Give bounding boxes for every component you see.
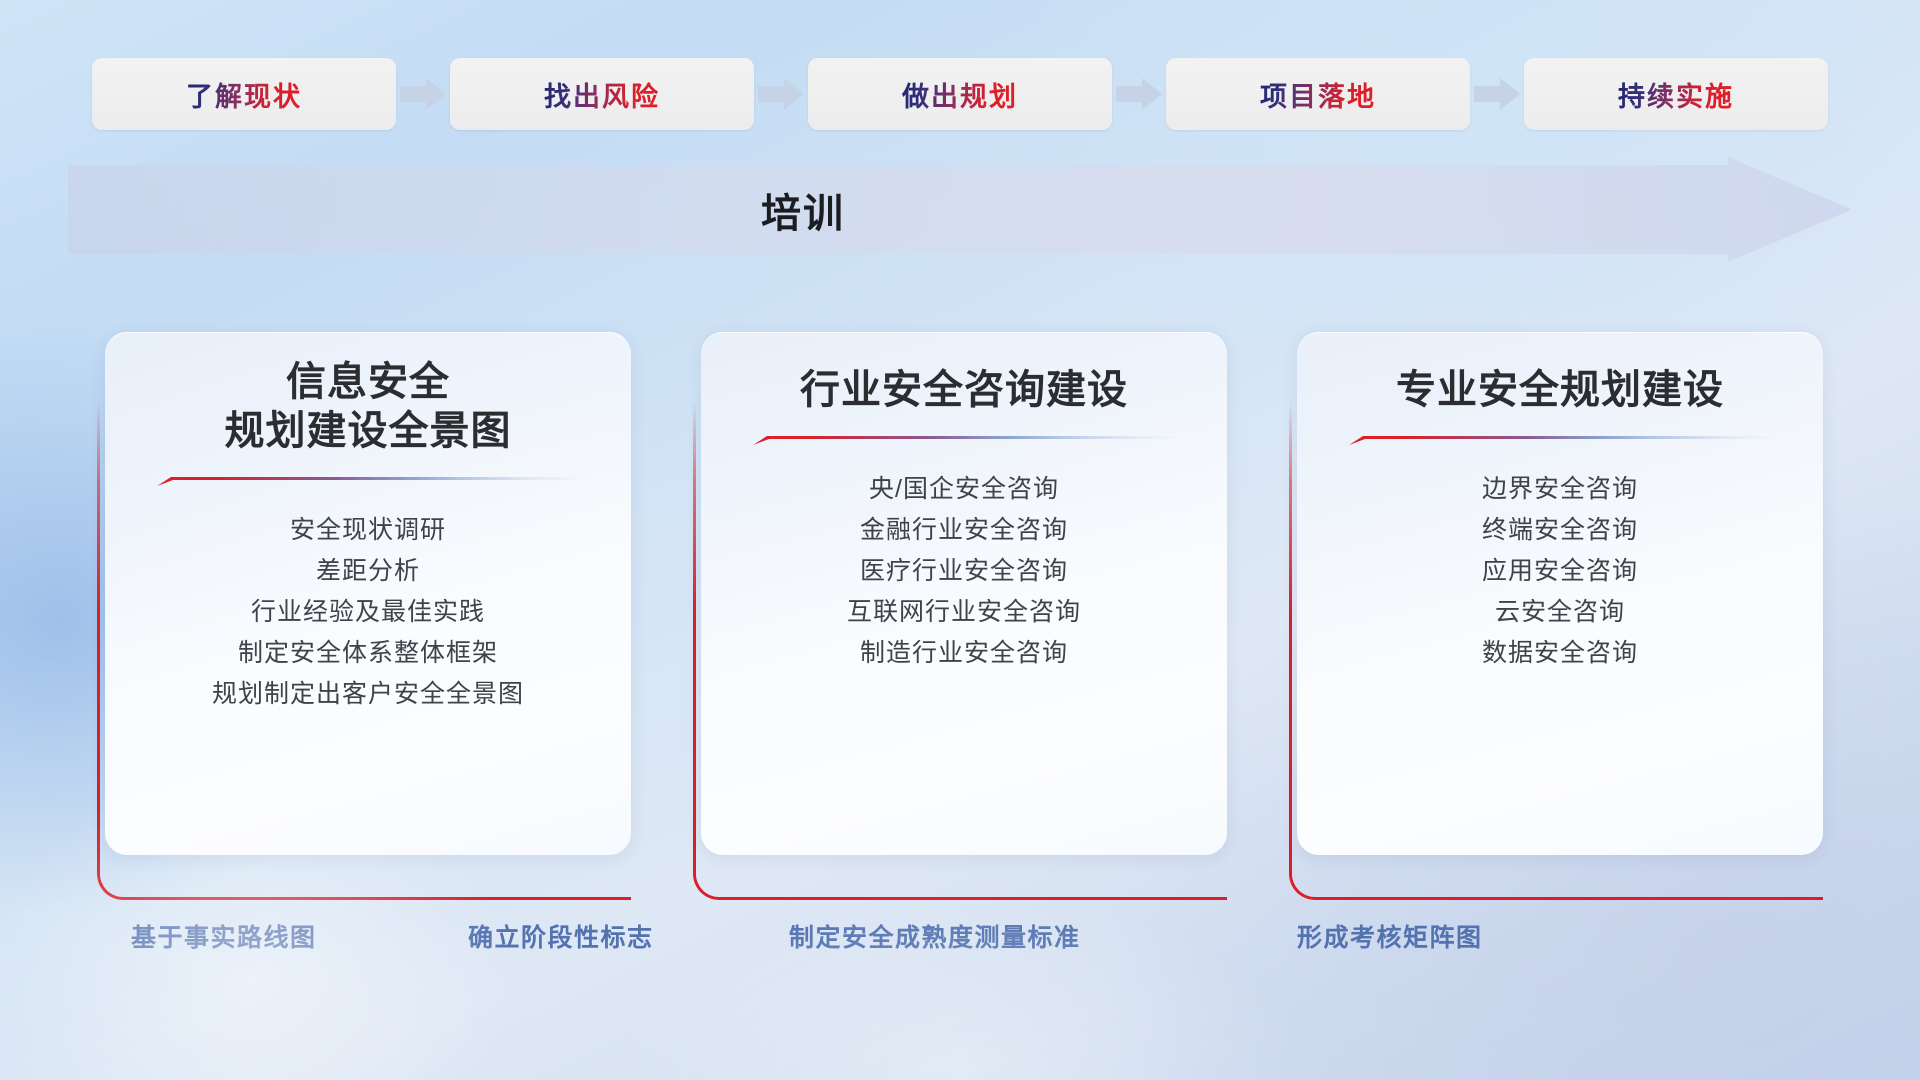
list-item[interactable]: 央/国企安全咨询 [701,469,1227,510]
card-title: 专业安全规划建设 [1396,366,1724,415]
list-item[interactable]: 安全现状调研 [105,510,631,551]
step-label: 了解现状 [186,75,302,114]
training-banner: 培训 [68,157,1852,262]
card-item-list: 边界安全咨询终端安全咨询应用安全咨询云安全咨询数据安全咨询 [1297,469,1823,674]
arrow-right-icon [396,75,450,113]
step-arrow-4 [1470,75,1524,113]
card-title: 行业安全咨询建设 [800,366,1128,415]
card-2[interactable]: 行业安全咨询建设央/国企安全咨询金融行业安全咨询医疗行业安全咨询互联网行业安全咨… [693,332,1227,877]
list-item[interactable]: 规划制定出客户安全全景图 [105,674,631,715]
list-item[interactable]: 制造行业安全咨询 [701,633,1227,674]
step-label: 找出风险 [544,75,660,114]
arrow-right-icon [1470,75,1524,113]
step-label: 持续实施 [1618,75,1734,114]
banner-title: 培训 [68,157,1538,262]
slide-canvas: 了解现状找出风险做出规划项目落地持续实施 培训 信息安全 规划建设全景图安全现状… [0,0,1920,1080]
step-arrow-1 [396,75,450,113]
list-item[interactable]: 行业经验及最佳实践 [105,592,631,633]
step-box-3[interactable]: 做出规划 [808,58,1112,130]
step-box-5[interactable]: 持续实施 [1524,58,1828,130]
step-box-4[interactable]: 项目落地 [1166,58,1470,130]
list-item[interactable]: 医疗行业安全咨询 [701,551,1227,592]
list-item[interactable]: 金融行业安全咨询 [701,510,1227,551]
list-item[interactable]: 边界安全咨询 [1297,469,1823,510]
caption-row: 基于事实路线图确立阶段性标志制定安全成熟度测量标准形成考核矩阵图 [0,918,1920,958]
card-item-list: 央/国企安全咨询金融行业安全咨询医疗行业安全咨询互联网行业安全咨询制造行业安全咨… [701,469,1227,674]
arrow-right-icon [754,75,808,113]
card-panel: 专业安全规划建设边界安全咨询终端安全咨询应用安全咨询云安全咨询数据安全咨询 [1297,332,1823,855]
list-item[interactable]: 差距分析 [105,551,631,592]
card-title: 信息安全 规划建设全景图 [225,358,512,456]
process-steps: 了解现状找出风险做出规划项目落地持续实施 [0,58,1920,130]
card-panel: 信息安全 规划建设全景图安全现状调研差距分析行业经验及最佳实践制定安全体系整体框… [105,332,631,855]
card-divider [753,435,1175,447]
list-item[interactable]: 制定安全体系整体框架 [105,633,631,674]
arrow-right-icon [1112,75,1166,113]
caption-1: 基于事实路线图 [131,918,317,954]
list-item[interactable]: 数据安全咨询 [1297,633,1823,674]
list-item[interactable]: 终端安全咨询 [1297,510,1823,551]
card-1[interactable]: 信息安全 规划建设全景图安全现状调研差距分析行业经验及最佳实践制定安全体系整体框… [97,332,631,877]
card-panel: 行业安全咨询建设央/国企安全咨询金融行业安全咨询医疗行业安全咨询互联网行业安全咨… [701,332,1227,855]
caption-3: 制定安全成熟度测量标准 [789,918,1081,954]
card-row: 信息安全 规划建设全景图安全现状调研差距分析行业经验及最佳实践制定安全体系整体框… [0,332,1920,877]
card-divider [157,476,579,488]
step-box-1[interactable]: 了解现状 [92,58,396,130]
step-label: 做出规划 [902,75,1018,114]
step-label: 项目落地 [1260,75,1376,114]
card-3[interactable]: 专业安全规划建设边界安全咨询终端安全咨询应用安全咨询云安全咨询数据安全咨询 [1289,332,1823,877]
list-item[interactable]: 云安全咨询 [1297,592,1823,633]
caption-4: 形成考核矩阵图 [1297,918,1483,954]
card-item-list: 安全现状调研差距分析行业经验及最佳实践制定安全体系整体框架规划制定出客户安全全景… [105,510,631,715]
caption-2: 确立阶段性标志 [468,918,654,954]
step-arrow-3 [1112,75,1166,113]
list-item[interactable]: 互联网行业安全咨询 [701,592,1227,633]
step-arrow-2 [754,75,808,113]
step-box-2[interactable]: 找出风险 [450,58,754,130]
card-divider [1349,435,1771,447]
list-item[interactable]: 应用安全咨询 [1297,551,1823,592]
